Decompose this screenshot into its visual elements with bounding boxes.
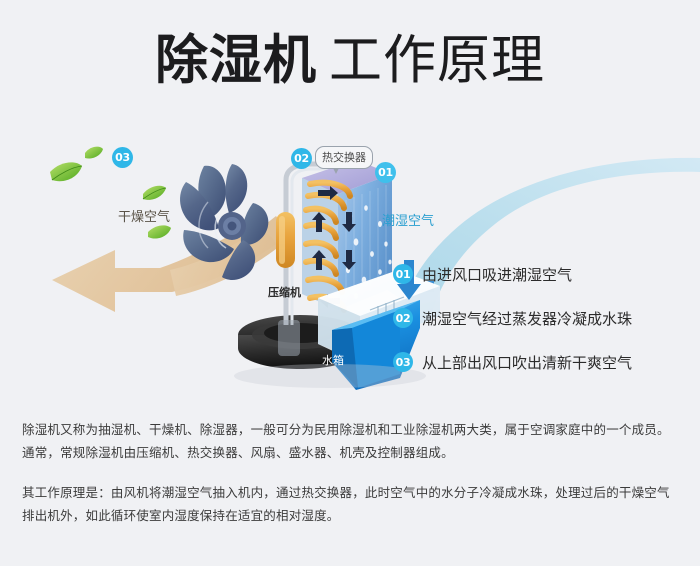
label-heat-exchanger: 热交换器 xyxy=(315,146,373,169)
list-item: 03 从上部出风口吹出清新干爽空气 xyxy=(393,340,693,384)
list-item: 01 由进风口吸进潮湿空气 xyxy=(393,252,693,296)
paragraph-definition: 除湿机又称为抽湿机、干燥机、除湿器，一般可分为民用除湿机和工业除湿机两大类，属于… xyxy=(22,418,682,464)
body-copy: 除湿机又称为抽湿机、干燥机、除湿器，一般可分为民用除湿机和工业除湿机两大类，属于… xyxy=(22,418,682,527)
list-item: 02 潮湿空气经过蒸发器冷凝成水珠 xyxy=(393,296,693,340)
label-water-tank: 水箱 xyxy=(322,352,344,368)
label-compressor: 压缩机 xyxy=(268,284,301,300)
leaf-icon xyxy=(143,186,166,200)
page-title-primary: 除湿机 xyxy=(155,30,317,91)
legend-badge-03: 03 xyxy=(393,352,413,372)
legend-text-01: 由进风口吸进潮湿空气 xyxy=(422,264,572,285)
legend-badge-02: 02 xyxy=(393,308,413,328)
legend-badge-01: 01 xyxy=(393,264,413,284)
paragraph-principle: 其工作原理是：由风机将潮湿空气抽入机内，通过热交换器，此时空气中的水分子冷凝成水… xyxy=(22,481,682,527)
badge-heat-exchanger: 02 xyxy=(291,148,312,169)
dehumidifier-infographic: 除湿机工作原理 xyxy=(0,0,700,566)
page-title: 除湿机工作原理 xyxy=(0,34,700,87)
leaf-icon xyxy=(85,147,103,159)
legend-text-02: 潮湿空气经过蒸发器冷凝成水珠 xyxy=(422,308,632,329)
leaf-icon xyxy=(50,162,82,181)
badge-humid-air: 01 xyxy=(375,162,396,183)
page-title-secondary: 工作原理 xyxy=(329,30,545,91)
label-humid-air: 潮湿空气 xyxy=(382,210,434,229)
badge-dry-air: 03 xyxy=(112,147,133,168)
legend-list: 01 由进风口吸进潮湿空气 02 潮湿空气经过蒸发器冷凝成水珠 03 从上部出风… xyxy=(393,252,693,384)
label-dry-air: 干燥空气 xyxy=(118,206,170,225)
legend-text-03: 从上部出风口吹出清新干爽空气 xyxy=(422,352,632,373)
leaf-icon xyxy=(148,225,171,238)
compressor-cylinder xyxy=(276,212,295,268)
